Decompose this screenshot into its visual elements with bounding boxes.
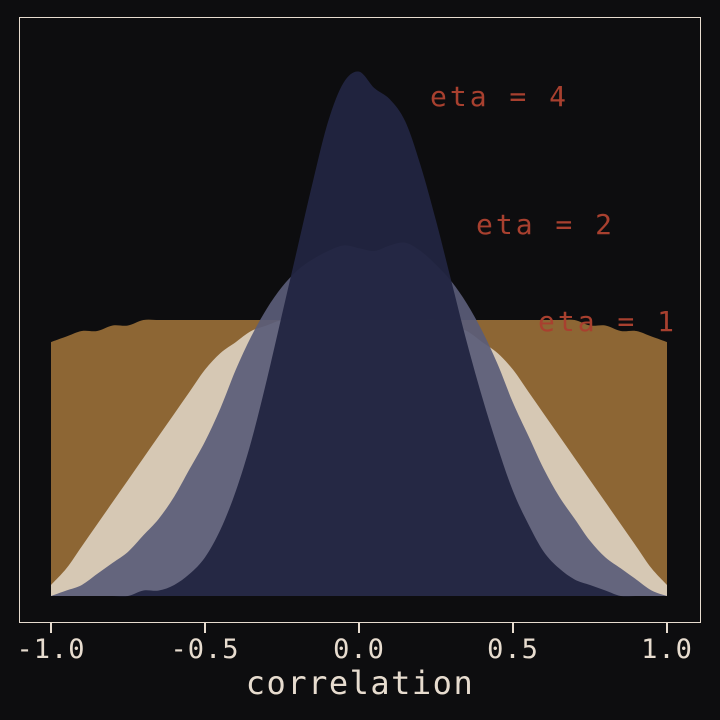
- annotation-eta2: eta = 2: [476, 208, 615, 241]
- x-tick-label: 0.0: [333, 634, 385, 665]
- x-tick-mark: [512, 623, 514, 633]
- annotation-eta4: eta = 4: [430, 80, 569, 113]
- x-tick-mark: [358, 623, 360, 633]
- x-tick-label: -0.5: [170, 634, 239, 665]
- x-tick-mark: [666, 623, 668, 633]
- x-tick-label: 1.0: [641, 634, 693, 665]
- x-tick-mark: [204, 623, 206, 633]
- annotation-eta1: eta = 1: [538, 305, 677, 338]
- x-tick-label: 0.5: [487, 634, 539, 665]
- x-tick-label: -1.0: [16, 634, 85, 665]
- x-tick-mark: [50, 623, 52, 633]
- x-axis-label: correlation: [246, 664, 474, 702]
- chart-figure: -1.0-0.50.00.51.0 eta = 4 eta = 2 eta = …: [0, 0, 720, 720]
